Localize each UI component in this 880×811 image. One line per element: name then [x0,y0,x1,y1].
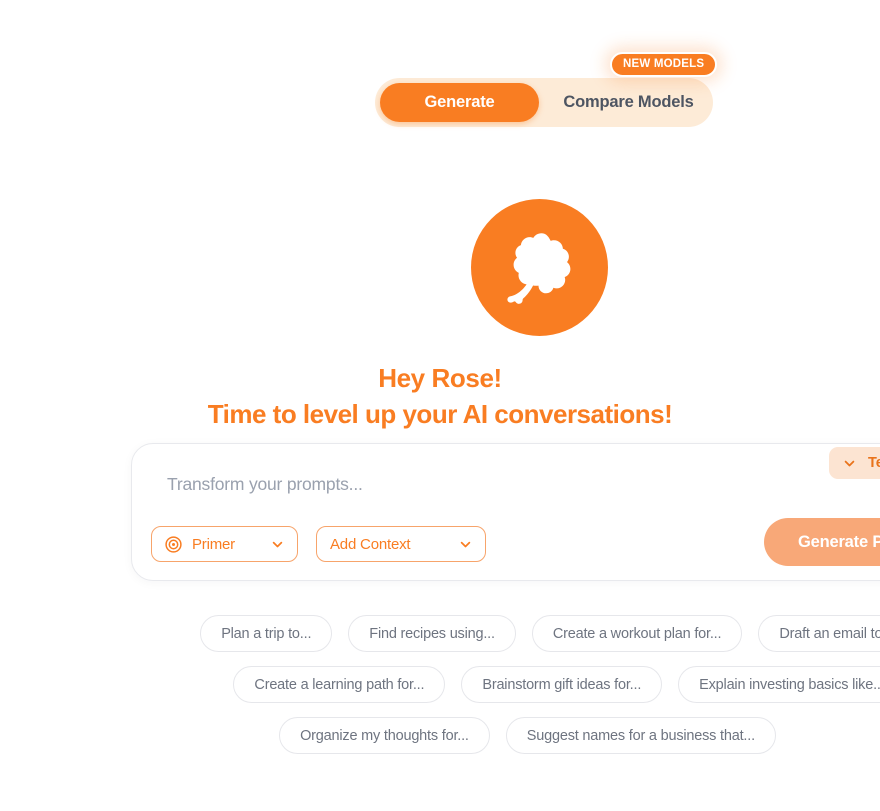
suggestion-chip[interactable]: Explain investing basics like... [678,666,880,703]
tab-generate-label: Generate [425,93,495,112]
suggestion-row: Organize my thoughts for... Suggest name… [175,717,880,754]
chevron-down-icon [843,457,856,470]
generate-prompt-button[interactable]: Generate Prompt [764,518,880,566]
suggestion-chip[interactable]: Create a learning path for... [233,666,445,703]
mode-toggle: Generate Compare Models NEW MODELS [375,78,713,127]
prompt-composer-card: Transform your prompts... Primer [131,443,880,581]
composer-controls: Primer Add Context [151,526,486,562]
add-context-selector[interactable]: Add Context [316,526,486,562]
tone-label: Te [868,455,880,471]
primer-label: Primer [192,536,235,553]
suggestion-chip[interactable]: Find recipes using... [348,615,516,652]
suggestion-row: Create a learning path for... Brainstorm… [217,666,880,703]
new-models-badge: NEW MODELS [610,52,717,77]
suggestion-chip[interactable]: Organize my thoughts for... [279,717,490,754]
app-logo [471,199,608,336]
tab-compare-models[interactable]: Compare Models [549,83,708,122]
suggestion-chip[interactable]: Create a workout plan for... [532,615,743,652]
greeting: Hey Rose! Time to level up your AI conve… [0,360,880,432]
suggestion-chip[interactable]: Draft an email to... [758,615,880,652]
tab-generate[interactable]: Generate [380,83,539,122]
tab-compare-models-label: Compare Models [563,93,693,112]
suggestion-row: Plan a trip to... Find recipes using... … [205,615,880,652]
suggestion-chip[interactable]: Suggest names for a business that... [506,717,776,754]
greeting-line-1: Hey Rose! [0,360,880,396]
greeting-line-2: Time to level up your AI conversations! [0,396,880,432]
generate-prompt-label: Generate Prompt [798,533,880,552]
chevron-down-icon [271,538,284,551]
tree-icon [505,231,575,305]
chevron-down-icon [459,538,472,551]
suggestion-chip[interactable]: Plan a trip to... [200,615,332,652]
prompt-input[interactable]: Transform your prompts... [167,474,363,495]
primer-selector[interactable]: Primer [151,526,298,562]
mode-toggle-track: Generate Compare Models [375,78,713,127]
add-context-label: Add Context [330,536,410,553]
suggestion-chip-list: Plan a trip to... Find recipes using... … [0,615,880,754]
app-root: Generate Compare Models NEW MODELS Hey R… [0,0,880,811]
tone-selector[interactable]: Te [829,447,880,479]
target-icon [165,536,182,553]
suggestion-chip[interactable]: Brainstorm gift ideas for... [461,666,662,703]
